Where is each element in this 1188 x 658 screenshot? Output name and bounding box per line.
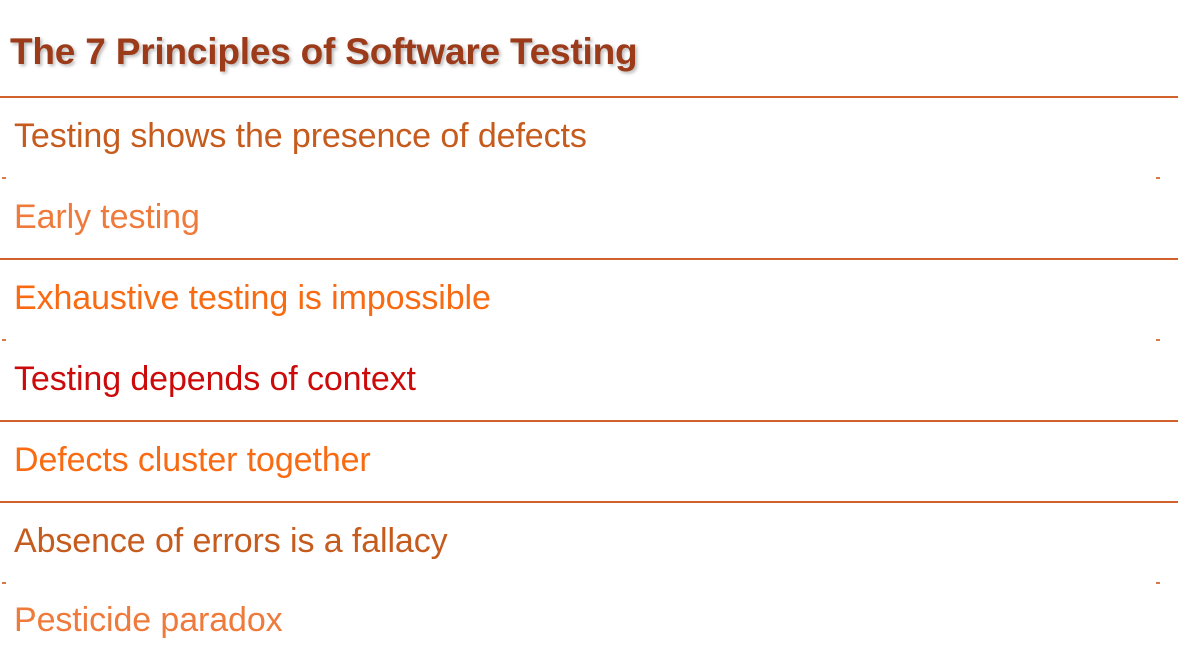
principle-label: Early testing xyxy=(14,198,200,236)
row-divider xyxy=(0,339,1178,341)
row-divider xyxy=(0,582,1178,584)
row-divider xyxy=(0,258,1178,260)
list-item[interactable]: Exhaustive testing is impossible xyxy=(0,258,1188,339)
slide-canvas: The 7 Principles of Software Testing Tes… xyxy=(0,0,1188,657)
principle-label: Exhaustive testing is impossible xyxy=(14,279,491,317)
principle-label: Pesticide paradox xyxy=(14,601,283,639)
list-item[interactable]: Defects cluster together xyxy=(0,420,1188,501)
list-item[interactable]: Pesticide paradox xyxy=(0,582,1188,658)
list-item[interactable]: Early testing xyxy=(0,177,1188,258)
principle-label: Testing depends of context xyxy=(14,360,416,398)
principle-label: Absence of errors is a fallacy xyxy=(14,522,448,560)
row-divider xyxy=(0,420,1178,422)
list-item[interactable]: Testing shows the presence of defects xyxy=(0,96,1188,177)
row-divider xyxy=(0,177,1178,179)
principle-label: Testing shows the presence of defects xyxy=(14,117,587,155)
page-title: The 7 Principles of Software Testing xyxy=(10,27,1170,79)
list-item[interactable]: Testing depends of context xyxy=(0,339,1188,420)
list-item[interactable]: Absence of errors is a fallacy xyxy=(0,501,1188,582)
principle-label: Defects cluster together xyxy=(14,441,371,479)
row-divider xyxy=(0,501,1178,503)
row-divider xyxy=(0,96,1178,98)
principles-list: Testing shows the presence of defects Ea… xyxy=(0,96,1188,658)
